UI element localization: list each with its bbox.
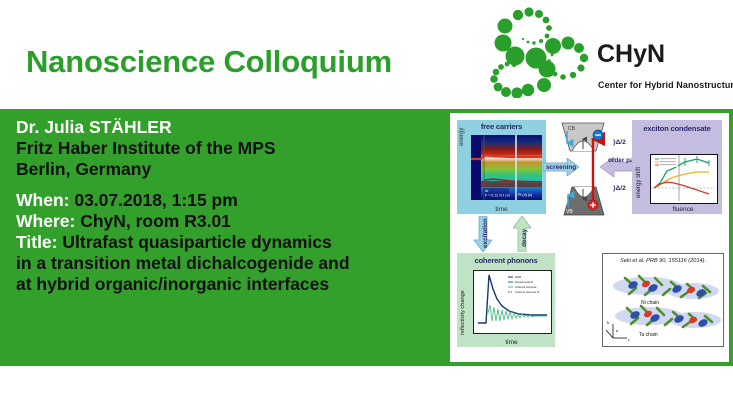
svg-text:Pt (d) (s): Pt (d) (s) xyxy=(518,193,532,197)
free-carriers-ylabel: energy xyxy=(459,128,465,146)
coherent-phonons-xlabel: time xyxy=(473,339,550,346)
svg-text:F = 0.12 mJ cm: F = 0.12 mJ cm xyxy=(485,194,510,198)
panel-crystal-structure: Seki et al. PRB 90, 155116 (2014). xyxy=(602,253,724,347)
svg-text:b: b xyxy=(607,320,610,325)
svg-text:coherent response fit: coherent response fit xyxy=(515,290,540,294)
when-value: 03.07.2018, 1:15 pm xyxy=(74,190,237,210)
title-label: Title xyxy=(16,232,52,252)
coherent-phonons-caption: coherent phonons xyxy=(457,256,555,265)
announcement-text-block: Dr. Julia STÄHLER Fritz Haber Institute … xyxy=(16,117,456,295)
when-row: When: 03.07.2018, 1:15 pm xyxy=(16,190,456,211)
gap-lower-label: }Δ/2 xyxy=(613,185,626,192)
speaker-affiliation: Fritz Haber Institute of the MPS xyxy=(16,138,456,159)
svg-text:Ta chain: Ta chain xyxy=(639,332,658,338)
title-continuation-2: at hybrid organic/inorganic interfaces xyxy=(16,274,456,295)
where-row: Where: ChyN, room R3.01 xyxy=(16,211,456,232)
when-separator: : xyxy=(64,190,75,210)
logo-tagline: Center for Hybrid Nanostructures xyxy=(598,80,733,90)
where-separator: : xyxy=(69,211,80,231)
svg-text:ΔR/R: ΔR/R xyxy=(515,275,521,279)
gap-upper-label: }Δ/2 xyxy=(613,139,626,146)
title-value: Ultrafast quasiparticle dynamics xyxy=(62,232,331,252)
where-value: ChyN, room R3.01 xyxy=(80,211,231,231)
spacer xyxy=(16,179,456,190)
svg-text:VB: VB xyxy=(566,209,573,215)
title-row: Title: Ultrafast quasiparticle dynamics xyxy=(16,232,456,253)
panel-coherent-phonons: coherent phonons reflectivity change ΔR/… xyxy=(457,253,555,347)
speaker-location: Berlin, Germany xyxy=(16,159,456,180)
poster-header: Nanoscience Colloquium xyxy=(0,0,733,109)
exciton-condensate-xlabel: fluence xyxy=(650,206,716,213)
crystal-render: Ni chain Ta chain b a c xyxy=(603,266,723,346)
svg-text:Ni chain: Ni chain xyxy=(641,300,659,306)
screening-label: screening xyxy=(546,164,576,171)
title-separator: : xyxy=(52,232,63,252)
coherent-phonons-ylabel: reflectivity change xyxy=(460,290,466,335)
free-carriers-caption: free carriers xyxy=(457,122,546,131)
panel-exciton-condensate: exciton condensate energy shift xyxy=(632,120,722,214)
svg-text:c: c xyxy=(628,337,630,342)
when-label: When xyxy=(16,190,64,210)
crystal-citation: Seki et al. PRB 90, 155116 (2014). xyxy=(603,258,723,264)
exciton-condensate-caption: exciton condensate xyxy=(632,124,722,133)
where-label: Where xyxy=(16,211,69,231)
chyn-circles-logo-icon xyxy=(487,6,597,98)
title-continuation-1: in a transition metal dichalcogenide and xyxy=(16,253,456,274)
panel-free-carriers: free carriers energy xyxy=(457,120,546,214)
exciton-condensate-ylabel: energy shift xyxy=(636,167,642,198)
green-content-band: Dr. Julia STÄHLER Fritz Haber Institute … xyxy=(0,109,733,366)
chyn-logo: CHyN Center for Hybrid Nanostructures xyxy=(487,4,733,104)
logo-wordmark: CHyN xyxy=(597,42,665,67)
svg-text:CB: CB xyxy=(568,126,576,132)
svg-text:coherent response: coherent response xyxy=(515,285,537,289)
free-carriers-xlabel: time xyxy=(457,206,546,213)
research-figure: free carriers energy xyxy=(450,113,729,362)
svg-text:a: a xyxy=(616,328,619,333)
exciton-condensate-chart xyxy=(650,154,718,204)
page-title: Nanoscience Colloquium xyxy=(26,44,392,80)
speaker-name: Dr. Julia STÄHLER xyxy=(16,117,456,138)
decay-label: decay xyxy=(521,229,528,247)
colloquium-poster: Nanoscience Colloquium xyxy=(0,0,733,414)
coherent-phonons-chart: ΔR/R biexponential fit coherent response… xyxy=(473,270,552,334)
svg-text:biexponential fit: biexponential fit xyxy=(515,280,533,284)
free-carriers-heatmap: Ar F = 0.12 mJ cm Pt (d) (s) xyxy=(471,135,542,200)
excitation-label: excitation xyxy=(482,218,489,248)
